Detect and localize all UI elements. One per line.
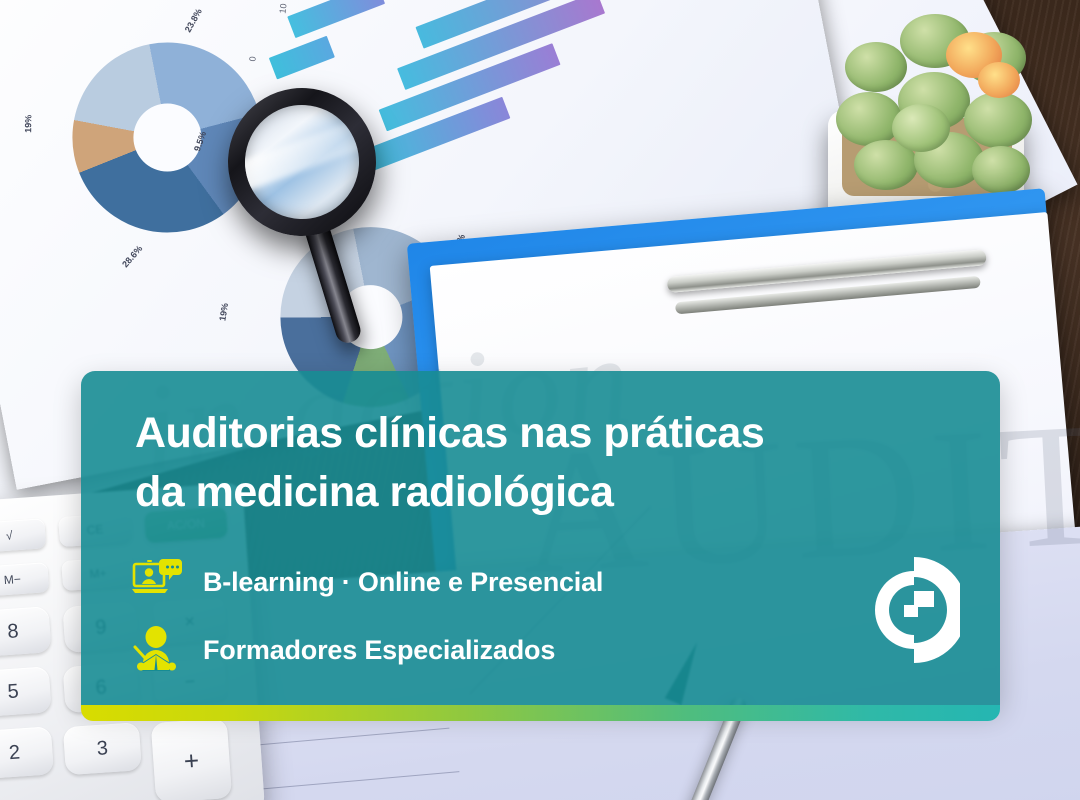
title-line-2: da medicina radiológica: [135, 463, 965, 522]
magnifier-lens: [238, 98, 367, 227]
banner-stage: 0 10 20 30 23.8% 19% 28.6% 19%: [0, 0, 1080, 800]
laptop-elearning-icon: [131, 557, 183, 607]
feature-row-trainers: Formadores Especializados: [131, 625, 555, 675]
page-title: Auditorias clínicas nas práticas da medi…: [135, 404, 965, 523]
feature-label-trainers: Formadores Especializados: [203, 635, 555, 666]
promo-card: Auditorias clínicas nas práticas da medi…: [81, 371, 1000, 705]
title-line-1: Auditorias clínicas nas práticas: [135, 404, 965, 463]
feature-row-blearning: B-learning · Online e Presencial: [131, 557, 603, 607]
feature-label-blearning: B-learning · Online e Presencial: [203, 567, 603, 598]
trainer-icon: [131, 625, 183, 675]
brand-ring-logo: [868, 551, 960, 669]
accent-gradient-bar: [81, 705, 1000, 721]
